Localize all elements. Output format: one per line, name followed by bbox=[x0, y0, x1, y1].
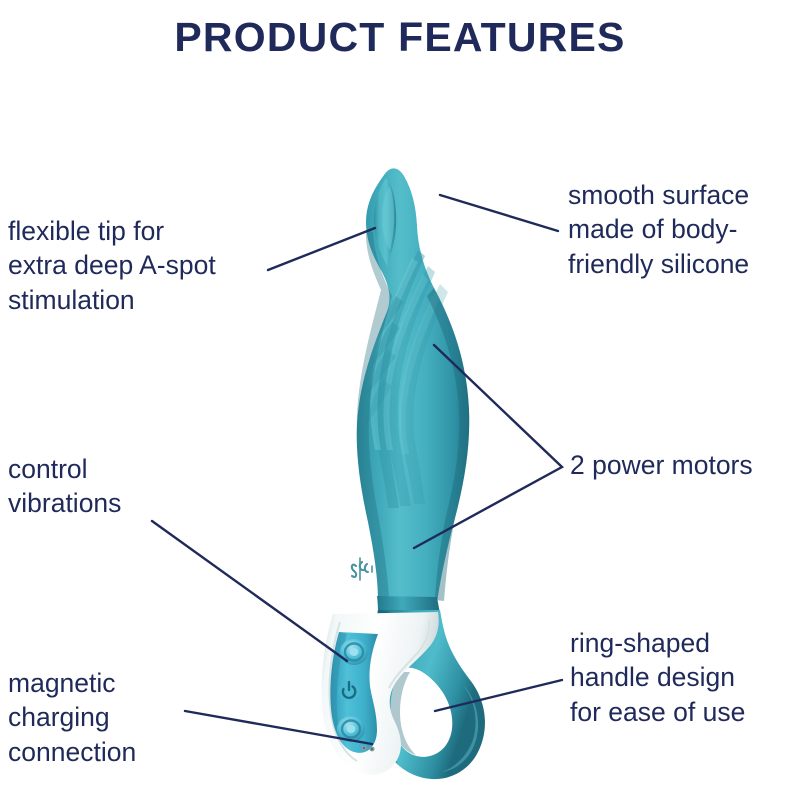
product-features-infographic: PRODUCT FEATURES bbox=[0, 0, 800, 800]
callout-power-motors: 2 power motors bbox=[570, 448, 800, 482]
callout-flexible-tip: flexible tip for extra deep A-spot stimu… bbox=[8, 214, 278, 317]
intensity-up-button[interactable] bbox=[340, 639, 368, 665]
intensity-down-button[interactable] bbox=[337, 716, 365, 742]
callout-control-vibrations: control vibrations bbox=[8, 452, 208, 521]
satisfyer-logo-icon bbox=[352, 558, 372, 580]
callout-smooth-surface: smooth surface made of body- friendly si… bbox=[568, 178, 800, 281]
callout-ring-handle: ring-shaped handle design for ease of us… bbox=[570, 626, 800, 729]
callout-magnetic-charging: magnetic charging connection bbox=[8, 666, 238, 769]
power-button[interactable] bbox=[338, 681, 360, 702]
